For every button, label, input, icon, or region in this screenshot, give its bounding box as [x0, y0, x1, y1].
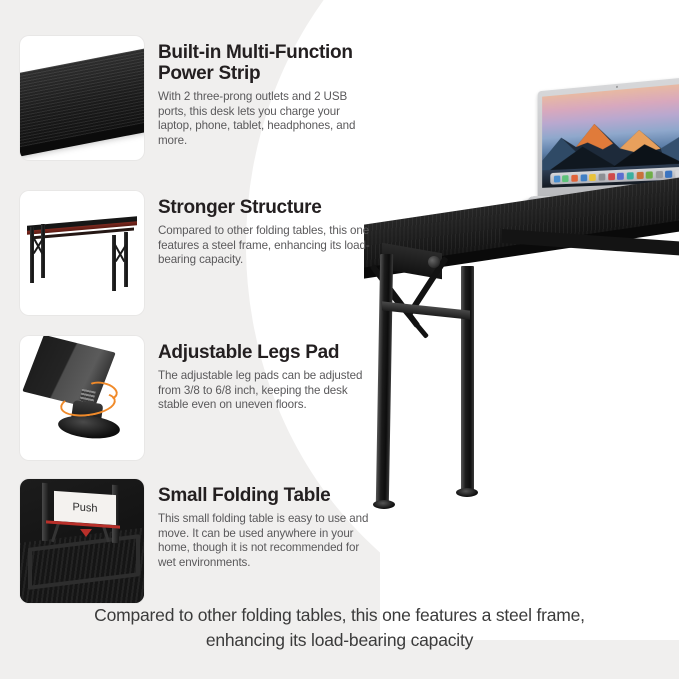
desk-foot-pad [373, 500, 395, 509]
thumbnail-steel-folding-table-frame [20, 191, 144, 315]
bottom-caption: Compared to other folding tables, this o… [0, 603, 679, 653]
feature-heading: Built-in Multi-Function Power Strip [158, 42, 376, 84]
push-label-text: Push [72, 501, 97, 515]
feature-heading: Stronger Structure [158, 197, 376, 218]
feature-heading: Adjustable Legs Pad [158, 342, 376, 363]
leg-pad-base-icon [57, 413, 121, 441]
desk-leg-front [376, 254, 393, 504]
feature-heading: Small Folding Table [158, 485, 376, 506]
feature-text: Adjustable Legs Pad The adjustable leg p… [158, 336, 376, 413]
desk-foot-pad [456, 488, 478, 497]
mountain-wallpaper-icon [542, 101, 679, 171]
feature-text: Stronger Structure Compared to other fol… [158, 191, 376, 268]
table-post-icon [42, 483, 49, 541]
feature-body: Compared to other folding tables, this o… [158, 224, 376, 268]
feature-text: Built-in Multi-Function Power Strip With… [158, 36, 376, 148]
feature-body: The adjustable leg pads can be adjusted … [158, 369, 376, 413]
laptop-screen [542, 83, 679, 188]
desk-leg-back [461, 266, 474, 492]
push-label: Push [54, 491, 116, 525]
laptop-camera-icon [616, 86, 618, 88]
thumbnail-folding-mechanism-push: Push [20, 479, 144, 603]
caption-line-1: Compared to other folding tables, this o… [94, 605, 585, 625]
feature-text: Small Folding Table This small folding t… [158, 479, 376, 570]
push-direction-arrow-tip-icon [80, 529, 92, 537]
thumbnail-black-wood-desktop-panel [20, 36, 144, 160]
infographic-page: Built-in Multi-Function Power Strip With… [0, 0, 679, 679]
desk-leg-rail [382, 301, 470, 319]
desk-hinge [428, 256, 440, 268]
feature-adjustable-legs-pad: Adjustable Legs Pad The adjustable leg p… [20, 336, 376, 460]
feature-small-folding-table: Push Small Folding Table This small fold… [20, 479, 376, 603]
caption-line-2: enhancing its load-bearing capacity [206, 630, 473, 650]
feature-stronger-structure: Stronger Structure Compared to other fol… [20, 191, 376, 315]
product-photo [352, 40, 679, 540]
feature-body: With 2 three-prong outlets and 2 USB por… [158, 90, 376, 148]
thumbnail-adjustable-leg-pad [20, 336, 144, 460]
feature-power-strip: Built-in Multi-Function Power Strip With… [20, 36, 376, 160]
feature-body: This small folding table is easy to use … [158, 512, 376, 570]
